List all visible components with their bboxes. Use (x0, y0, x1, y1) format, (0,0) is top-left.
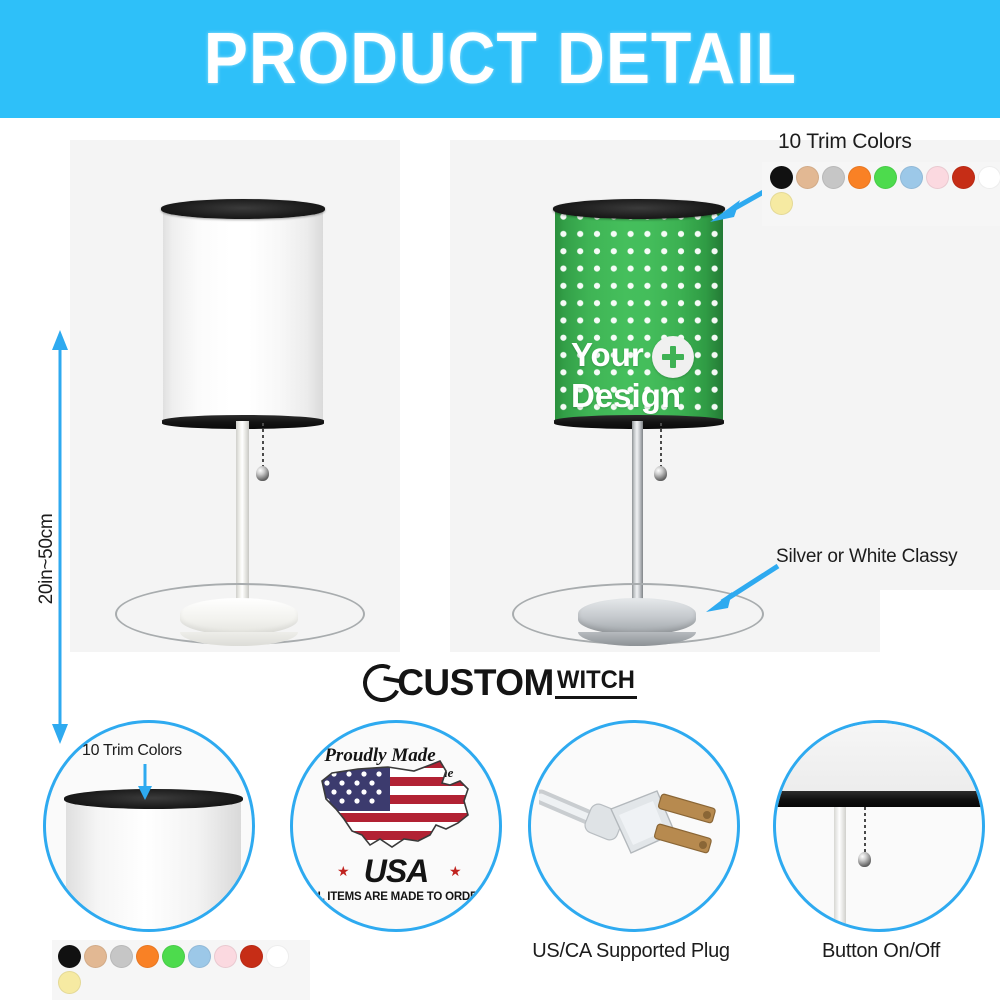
trim-colors-inner-label: 10 Trim Colors (82, 742, 182, 760)
main-product-stage: 7in~18cm 20in~50cm (0, 118, 1000, 658)
trim-swatch-tan[interactable] (84, 945, 107, 968)
white-shade-surface (163, 208, 323, 423)
trim-swatch-black[interactable] (58, 945, 81, 968)
trim-swatch-orange[interactable] (848, 166, 871, 189)
usa-star-right: ★ (449, 863, 462, 880)
white-shade-top-trim (161, 199, 325, 219)
trim-swatch-orange[interactable] (136, 945, 159, 968)
switch-black-trim-graphic (773, 791, 985, 807)
made-in-usa-circle: Proudly Made in the (290, 720, 502, 932)
trim-colors-down-arrow (136, 764, 154, 800)
logo-word-secondary-wrap: WITCH (555, 668, 637, 699)
trim-swatch-pink[interactable] (926, 166, 949, 189)
white-lamp-chain-ball[interactable] (256, 466, 269, 481)
plug-circle (528, 720, 740, 932)
trim-color-swatch-panel-bottom (52, 940, 310, 1000)
trim-color-swatch-panel-top (762, 162, 1000, 226)
trim-colors-shade-graphic (66, 797, 241, 932)
white-base-top (180, 598, 298, 635)
white-base-edge (180, 632, 298, 646)
switch-shade-graphic (773, 720, 985, 795)
trim-swatch-gray[interactable] (822, 166, 845, 189)
green-lamp-shade: Your Design (555, 208, 723, 423)
us-map-flag-graphic (318, 759, 480, 857)
trim-swatch-yellow[interactable] (58, 971, 81, 994)
trim-swatch-pink[interactable] (214, 945, 237, 968)
trim-swatch-gray[interactable] (110, 945, 133, 968)
green-lamp-base (578, 598, 696, 646)
feature-switch: Button On/Off (768, 712, 994, 992)
silver-base-top (578, 598, 696, 635)
plus-circle-icon (652, 336, 694, 378)
page-title: PRODUCT DETAIL (203, 23, 796, 95)
feature-row: 10 Trim Colors Proudly Made in the (0, 706, 1000, 1000)
white-lamp-shade (163, 208, 323, 423)
trim-swatch-white[interactable] (266, 945, 289, 968)
brand-logo: CUSTOM WITCH (0, 662, 1000, 704)
power-plug-icon (539, 775, 735, 895)
trim-swatch-black[interactable] (770, 166, 793, 189)
trim-swatch-yellow[interactable] (770, 192, 793, 215)
green-shade-design-line1: Your (571, 338, 644, 371)
trim-swatch-green[interactable] (874, 166, 897, 189)
logo-underline (555, 696, 637, 699)
green-lamp-chain-ball[interactable] (654, 466, 667, 481)
usa-badge-sub: ALL ITEMS ARE MADE TO ORDER! (293, 891, 499, 903)
product-detail-page: PRODUCT DETAIL 7in~18cm 20in~50cm (0, 0, 1000, 1000)
trim-colors-callout-label: 10 Trim Colors (778, 130, 912, 154)
base-finish-callout-label: Silver or White Classy (776, 546, 957, 568)
logo-word-secondary: WITCH (557, 668, 635, 693)
green-shade-surface: Your Design (555, 208, 723, 423)
usa-badge-big: USA (293, 853, 499, 890)
plug-caption: US/CA Supported Plug (508, 940, 754, 963)
switch-chain-ball[interactable] (858, 852, 871, 867)
feature-trim-colors: 10 Trim Colors (38, 712, 268, 1000)
page-header-banner: PRODUCT DETAIL (0, 0, 1000, 118)
switch-caption: Button On/Off (768, 940, 994, 963)
switch-circle (773, 720, 985, 932)
white-lamp-base (180, 598, 298, 646)
trim-swatch-red[interactable] (952, 166, 975, 189)
feature-made-in-usa: Proudly Made in the (285, 712, 511, 942)
trim-swatch-green[interactable] (162, 945, 185, 968)
silver-base-edge (578, 632, 696, 646)
green-lamp-pull-chain[interactable] (660, 423, 662, 469)
white-lamp (0, 118, 400, 658)
green-shade-design-line2: Design (571, 379, 681, 412)
switch-pull-chain[interactable] (864, 807, 866, 855)
base-finish-callout-arrow (700, 558, 786, 614)
feature-plug: US/CA Supported Plug (508, 712, 754, 992)
trim-swatch-light-blue[interactable] (188, 945, 211, 968)
trim-swatch-light-blue[interactable] (900, 166, 923, 189)
trim-swatch-white[interactable] (978, 166, 1000, 189)
white-lamp-pull-chain[interactable] (262, 423, 264, 469)
usa-flag-map-icon: Proudly Made in the (293, 723, 499, 929)
trim-swatch-red[interactable] (240, 945, 263, 968)
switch-pole-graphic (834, 807, 846, 932)
logo-word-primary: CUSTOM (397, 662, 554, 704)
trim-swatch-tan[interactable] (796, 166, 819, 189)
